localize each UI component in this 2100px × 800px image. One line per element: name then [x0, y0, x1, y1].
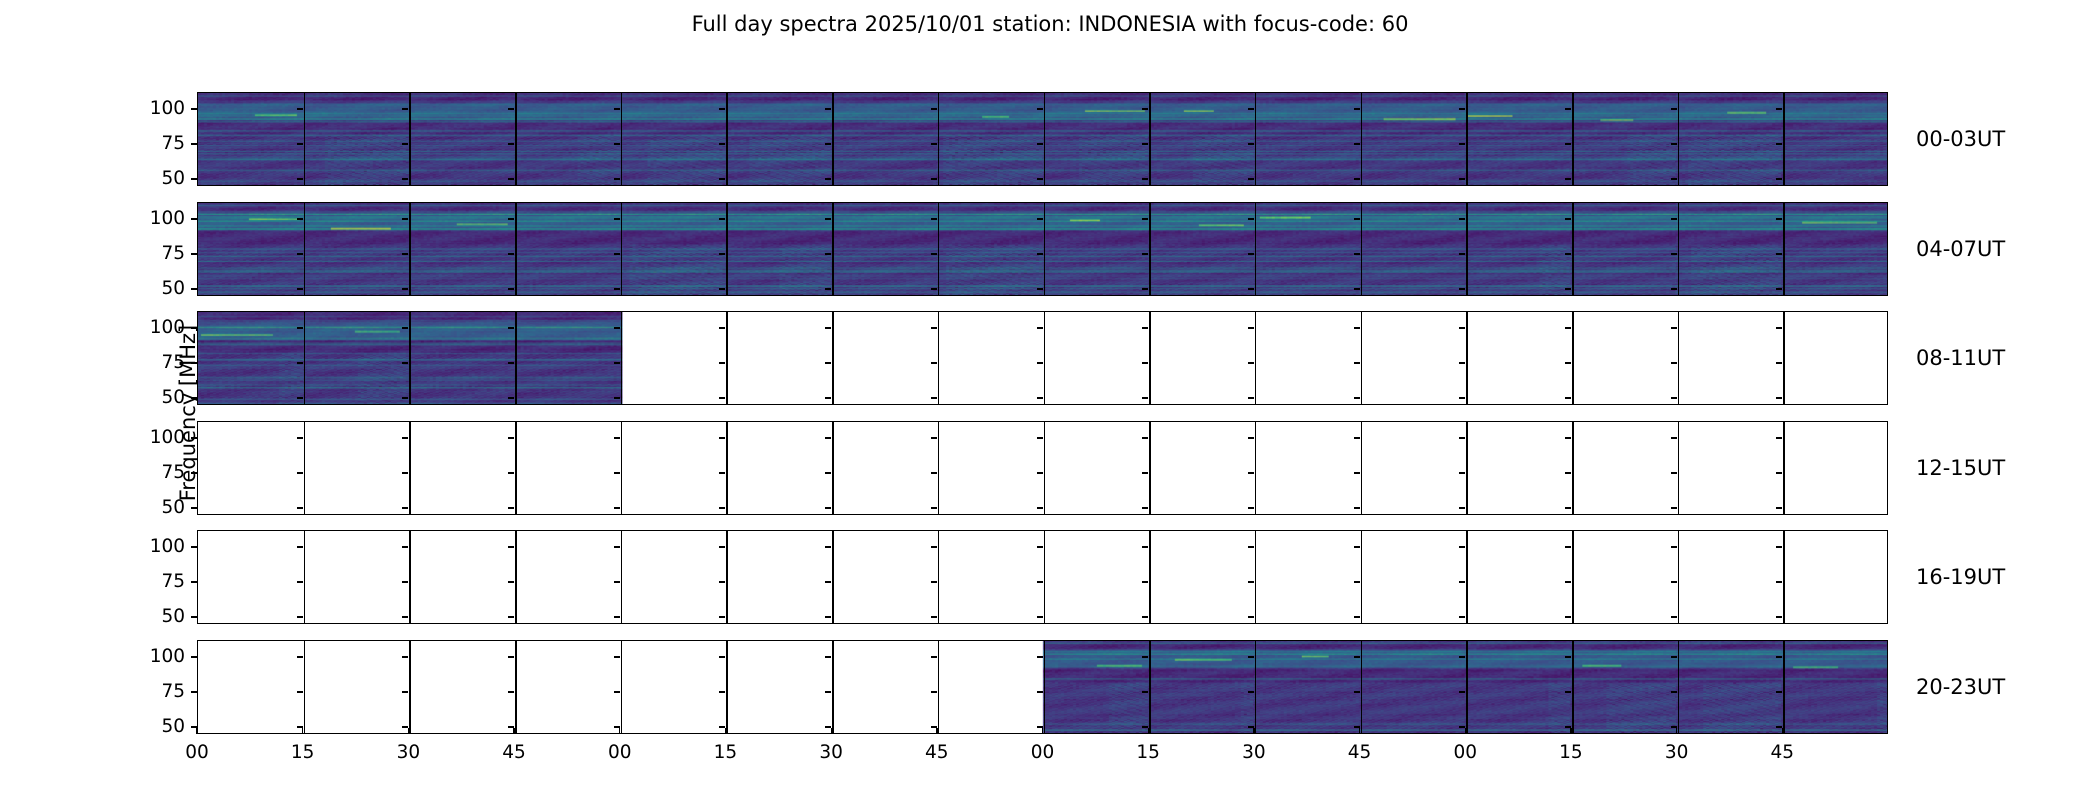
y-tick-mark-interior [614, 507, 620, 508]
segment-separator [1466, 422, 1468, 514]
y-tick-mark-interior [931, 178, 937, 179]
x-tick-label: 45 [897, 744, 977, 763]
row-label-00-03ut: 00-03UT [1916, 129, 2005, 150]
segment-separator [1149, 641, 1151, 733]
y-tick-mark-interior [1354, 656, 1360, 657]
y-tick-mark [191, 581, 197, 582]
segment-separator [938, 531, 940, 623]
segment-separator [1044, 203, 1046, 295]
y-tick-mark-interior [1671, 472, 1677, 473]
y-tick-mark-interior [931, 437, 937, 438]
spectrogram-figure: Full day spectra 2025/10/01 station: IND… [0, 0, 2100, 800]
y-tick-mark-interior [614, 437, 620, 438]
segment-separator [621, 93, 623, 185]
y-tick-mark-interior [297, 218, 303, 219]
y-tick-mark-interior [825, 472, 831, 473]
y-tick-mark-interior [931, 616, 937, 617]
segment-separator [1678, 93, 1680, 185]
y-tick-mark-interior [1354, 108, 1360, 109]
y-tick-mark-interior [402, 397, 408, 398]
y-tick-mark-interior [1565, 288, 1571, 289]
y-tick-mark-interior [508, 581, 514, 582]
y-tick-mark-interior [1459, 327, 1465, 328]
y-tick-mark-interior [1142, 218, 1148, 219]
x-tick-label: 30 [791, 744, 871, 763]
y-tick-mark-interior [719, 472, 725, 473]
y-tick-mark-interior [402, 327, 408, 328]
y-tick-mark-interior [825, 546, 831, 547]
y-tick-mark-interior [931, 143, 937, 144]
segment-separator [726, 531, 728, 623]
y-tick-mark-interior [1776, 507, 1782, 508]
y-tick-mark-interior [402, 546, 408, 547]
y-tick-label: 100 [105, 538, 185, 557]
y-tick-mark-interior [825, 108, 831, 109]
y-tick-mark-interior [1776, 656, 1782, 657]
y-tick-mark-interior [1776, 437, 1782, 438]
y-tick-mark-interior [825, 143, 831, 144]
segment-separator [1044, 312, 1046, 404]
segment-separator [1255, 93, 1257, 185]
y-tick-mark-interior [1354, 327, 1360, 328]
y-tick-mark [191, 288, 197, 289]
y-tick-mark-interior [1776, 253, 1782, 254]
spectrogram-canvas [198, 422, 1887, 514]
y-tick-mark [191, 472, 197, 473]
y-tick-mark-interior [719, 143, 725, 144]
y-tick-mark-interior [1354, 253, 1360, 254]
row-label-16-19ut: 16-19UT [1916, 567, 2005, 588]
segment-separator [1361, 531, 1363, 623]
y-tick-mark-interior [1565, 507, 1571, 508]
y-tick-mark-interior [931, 253, 937, 254]
y-tick-mark-interior [1459, 507, 1465, 508]
y-tick-mark-interior [1459, 581, 1465, 582]
y-tick-mark-interior [1142, 507, 1148, 508]
segment-separator [1361, 422, 1363, 514]
y-tick-mark-interior [1459, 143, 1465, 144]
y-tick-mark-interior [825, 437, 831, 438]
y-tick-mark-interior [1037, 656, 1043, 657]
x-tick-mark [1465, 728, 1466, 734]
y-tick-mark-interior [719, 507, 725, 508]
y-tick-mark-interior [297, 143, 303, 144]
x-tick-mark [1148, 728, 1149, 734]
y-tick-mark-interior [1565, 397, 1571, 398]
y-tick-mark-interior [931, 397, 937, 398]
segment-separator [409, 93, 411, 185]
y-tick-mark-interior [1459, 253, 1465, 254]
x-tick-mark [1676, 728, 1677, 734]
y-tick-label: 50 [105, 170, 185, 189]
y-tick-mark-interior [1248, 397, 1254, 398]
segment-separator [1044, 531, 1046, 623]
y-tick-mark-interior [931, 691, 937, 692]
y-tick-mark-interior [508, 362, 514, 363]
spectrogram-canvas [198, 93, 1887, 185]
y-tick-mark-interior [1565, 581, 1571, 582]
y-tick-mark [191, 546, 197, 547]
y-tick-mark-interior [1459, 691, 1465, 692]
y-tick-mark-interior [1565, 472, 1571, 473]
row-label-12-15ut: 12-15UT [1916, 458, 2005, 479]
y-tick-mark-interior [1565, 108, 1571, 109]
y-tick-mark-interior [402, 507, 408, 508]
y-tick-mark-interior [614, 581, 620, 582]
y-tick-mark [191, 507, 197, 508]
y-tick-mark-interior [1248, 327, 1254, 328]
y-tick-mark-interior [931, 108, 937, 109]
y-tick-mark-interior [1776, 178, 1782, 179]
y-tick-mark-interior [1142, 362, 1148, 363]
y-tick-mark-interior [297, 546, 303, 547]
x-tick-mark [408, 728, 409, 734]
y-tick-mark-interior [297, 327, 303, 328]
segment-separator [1044, 641, 1046, 733]
segment-separator [1149, 422, 1151, 514]
y-tick-mark-interior [825, 253, 831, 254]
y-tick-mark-interior [1671, 362, 1677, 363]
y-tick-mark-interior [1671, 397, 1677, 398]
x-tick-label: 00 [580, 744, 660, 763]
y-tick-mark-interior [825, 178, 831, 179]
y-tick-mark-interior [1142, 656, 1148, 657]
y-tick-mark-interior [1142, 327, 1148, 328]
y-tick-mark-interior [1565, 691, 1571, 692]
y-tick-mark-interior [1459, 472, 1465, 473]
y-tick-mark-interior [614, 656, 620, 657]
y-tick-mark-interior [1776, 327, 1782, 328]
y-tick-mark-interior [931, 327, 937, 328]
y-tick-mark-interior [1776, 143, 1782, 144]
y-tick-mark-interior [1037, 362, 1043, 363]
y-tick-mark [191, 397, 197, 398]
segment-separator [1678, 641, 1680, 733]
y-tick-mark-interior [1142, 472, 1148, 473]
segment-separator [409, 531, 411, 623]
y-tick-mark-interior [1142, 108, 1148, 109]
y-tick-label: 100 [105, 210, 185, 229]
y-tick-mark-interior [1776, 546, 1782, 547]
segment-separator [621, 312, 623, 404]
y-tick-mark-interior [719, 546, 725, 547]
y-tick-mark-interior [614, 472, 620, 473]
y-tick-mark-interior [931, 656, 937, 657]
segment-separator [1678, 531, 1680, 623]
row-label-08-11ut: 08-11UT [1916, 348, 2005, 369]
y-tick-mark-interior [1671, 327, 1677, 328]
y-tick-mark [191, 691, 197, 692]
segment-separator [938, 203, 940, 295]
y-tick-mark-interior [1037, 218, 1043, 219]
x-tick-mark [831, 728, 832, 734]
y-tick-mark-interior [297, 691, 303, 692]
y-tick-mark-interior [825, 616, 831, 617]
y-tick-mark-interior [1565, 143, 1571, 144]
y-tick-label: 50 [105, 389, 185, 408]
y-tick-mark-interior [402, 616, 408, 617]
y-tick-mark [191, 253, 197, 254]
segment-separator [1361, 93, 1363, 185]
spectrogram-canvas [198, 531, 1887, 623]
y-tick-mark-interior [825, 288, 831, 289]
segment-separator [1466, 531, 1468, 623]
segment-separator [1572, 203, 1574, 295]
segment-separator [1572, 531, 1574, 623]
x-tick-label: 30 [368, 744, 448, 763]
y-tick-mark-interior [1354, 362, 1360, 363]
y-tick-mark-interior [402, 656, 408, 657]
y-tick-mark [191, 143, 197, 144]
segment-separator [304, 203, 306, 295]
y-tick-mark-interior [1248, 546, 1254, 547]
figure-title: Full day spectra 2025/10/01 station: IND… [0, 12, 2100, 36]
row-label-04-07ut: 04-07UT [1916, 239, 2005, 260]
y-tick-mark [191, 178, 197, 179]
row-label-20-23ut: 20-23UT [1916, 677, 2005, 698]
y-tick-mark-interior [1248, 253, 1254, 254]
y-tick-mark-interior [1776, 108, 1782, 109]
y-tick-mark-interior [1459, 616, 1465, 617]
segment-separator [1149, 531, 1151, 623]
segment-separator [515, 641, 517, 733]
segment-separator [1466, 203, 1468, 295]
spectrogram-axes-00-03ut [197, 92, 1888, 186]
y-tick-mark-interior [614, 178, 620, 179]
y-tick-mark-interior [297, 437, 303, 438]
y-tick-mark-interior [719, 218, 725, 219]
y-tick-mark [191, 437, 197, 438]
y-tick-label: 75 [105, 464, 185, 483]
segment-separator [832, 93, 834, 185]
x-tick-label: 45 [1320, 744, 1400, 763]
y-tick-mark-interior [1354, 143, 1360, 144]
y-tick-mark-interior [1671, 656, 1677, 657]
y-tick-mark-interior [402, 362, 408, 363]
segment-separator [1044, 422, 1046, 514]
segment-separator [304, 93, 306, 185]
y-tick-mark-interior [1671, 691, 1677, 692]
y-tick-mark-interior [1671, 546, 1677, 547]
y-tick-mark [191, 656, 197, 657]
y-tick-label: 50 [105, 499, 185, 518]
segment-separator [1255, 531, 1257, 623]
segment-separator [1149, 203, 1151, 295]
segment-separator [1783, 93, 1785, 185]
y-tick-mark-interior [402, 178, 408, 179]
y-tick-mark-interior [1037, 581, 1043, 582]
y-tick-mark-interior [1142, 437, 1148, 438]
y-tick-mark-interior [1248, 472, 1254, 473]
y-tick-mark-interior [614, 397, 620, 398]
y-tick-mark-interior [1776, 616, 1782, 617]
spectrogram-axes-12-15ut [197, 421, 1888, 515]
y-tick-mark-interior [508, 108, 514, 109]
y-tick-mark-interior [719, 108, 725, 109]
y-tick-mark-interior [1142, 581, 1148, 582]
y-tick-mark-interior [297, 108, 303, 109]
y-tick-label: 50 [105, 608, 185, 627]
segment-separator [938, 422, 940, 514]
y-tick-mark-interior [1248, 437, 1254, 438]
y-tick-mark-interior [1248, 507, 1254, 508]
x-tick-label: 00 [1425, 744, 1505, 763]
y-tick-mark-interior [297, 362, 303, 363]
y-tick-label: 100 [105, 429, 185, 448]
y-tick-mark-interior [1671, 581, 1677, 582]
y-tick-mark-interior [1565, 546, 1571, 547]
y-tick-mark-interior [1037, 288, 1043, 289]
segment-separator [938, 641, 940, 733]
y-tick-mark-interior [508, 472, 514, 473]
segment-separator [726, 312, 728, 404]
y-tick-mark-interior [1037, 143, 1043, 144]
y-tick-mark-interior [719, 656, 725, 657]
y-tick-mark-interior [1354, 507, 1360, 508]
y-tick-mark-interior [1248, 108, 1254, 109]
segment-separator [1255, 203, 1257, 295]
x-tick-mark [619, 728, 620, 734]
segment-separator [832, 641, 834, 733]
y-tick-mark-interior [508, 616, 514, 617]
y-tick-mark-interior [1459, 288, 1465, 289]
y-tick-mark-interior [1671, 253, 1677, 254]
y-tick-mark-interior [1354, 691, 1360, 692]
y-tick-mark-interior [719, 581, 725, 582]
y-tick-mark-interior [1248, 362, 1254, 363]
y-tick-mark-interior [719, 288, 725, 289]
y-tick-mark-interior [1142, 546, 1148, 547]
y-tick-mark-interior [614, 691, 620, 692]
y-tick-mark-interior [1459, 218, 1465, 219]
x-tick-label: 30 [1637, 744, 1717, 763]
y-tick-mark-interior [1671, 178, 1677, 179]
x-tick-mark [1359, 728, 1360, 734]
segment-separator [1783, 312, 1785, 404]
y-tick-mark-interior [931, 218, 937, 219]
y-tick-mark-interior [931, 507, 937, 508]
segment-separator [1466, 312, 1468, 404]
y-tick-mark-interior [719, 178, 725, 179]
y-tick-mark-interior [1671, 616, 1677, 617]
y-tick-mark-interior [614, 108, 620, 109]
y-tick-mark-interior [1248, 143, 1254, 144]
segment-separator [304, 422, 306, 514]
y-tick-mark-interior [1565, 437, 1571, 438]
y-tick-mark [191, 362, 197, 363]
spectrogram-canvas [198, 312, 1887, 404]
segment-separator [832, 422, 834, 514]
segment-separator [621, 422, 623, 514]
y-tick-mark-interior [1671, 218, 1677, 219]
y-tick-mark-interior [508, 253, 514, 254]
y-tick-mark-interior [1037, 546, 1043, 547]
y-tick-mark-interior [1459, 546, 1465, 547]
x-tick-mark [302, 728, 303, 734]
segment-separator [1572, 312, 1574, 404]
segment-separator [515, 93, 517, 185]
segment-separator [1783, 422, 1785, 514]
y-tick-mark-interior [1142, 143, 1148, 144]
y-tick-mark-interior [931, 581, 937, 582]
segment-separator [1783, 203, 1785, 295]
y-tick-mark-interior [1142, 288, 1148, 289]
y-tick-mark-interior [1354, 472, 1360, 473]
y-tick-mark-interior [1459, 656, 1465, 657]
segment-separator [832, 312, 834, 404]
y-tick-mark-interior [297, 253, 303, 254]
y-tick-mark-interior [402, 253, 408, 254]
y-tick-mark-interior [825, 656, 831, 657]
y-tick-mark-interior [1248, 581, 1254, 582]
y-tick-label: 100 [105, 319, 185, 338]
y-tick-mark-interior [1565, 218, 1571, 219]
segment-separator [726, 422, 728, 514]
x-tick-label: 15 [685, 744, 765, 763]
y-tick-label: 75 [105, 683, 185, 702]
y-tick-mark-interior [1142, 616, 1148, 617]
y-tick-mark-interior [297, 178, 303, 179]
y-tick-mark-interior [1354, 397, 1360, 398]
y-tick-mark-interior [508, 143, 514, 144]
y-tick-mark-interior [297, 616, 303, 617]
segment-separator [1572, 641, 1574, 733]
spectrogram-axes-20-23ut [197, 640, 1888, 734]
y-tick-mark-interior [508, 546, 514, 547]
x-tick-mark [725, 728, 726, 734]
segment-separator [409, 312, 411, 404]
segment-separator [832, 203, 834, 295]
y-tick-label: 75 [105, 354, 185, 373]
y-tick-mark-interior [297, 397, 303, 398]
y-tick-mark-interior [931, 362, 937, 363]
y-tick-mark-interior [508, 327, 514, 328]
y-tick-mark-interior [402, 218, 408, 219]
y-tick-mark-interior [297, 507, 303, 508]
y-tick-mark-interior [1459, 108, 1465, 109]
segment-separator [515, 203, 517, 295]
y-tick-label: 100 [105, 648, 185, 667]
y-tick-mark-interior [1671, 437, 1677, 438]
y-tick-mark-interior [1776, 397, 1782, 398]
y-tick-mark-interior [1565, 253, 1571, 254]
y-tick-mark-interior [1248, 656, 1254, 657]
y-tick-mark-interior [1776, 472, 1782, 473]
y-tick-label: 75 [105, 245, 185, 264]
segment-separator [304, 312, 306, 404]
y-tick-mark-interior [719, 691, 725, 692]
x-tick-mark [936, 728, 937, 734]
segment-separator [938, 93, 940, 185]
y-tick-mark-interior [1565, 327, 1571, 328]
y-tick-mark-interior [1037, 397, 1043, 398]
y-tick-mark-interior [1248, 288, 1254, 289]
y-tick-mark-interior [1037, 472, 1043, 473]
spectrogram-canvas [198, 641, 1887, 733]
y-tick-mark-interior [1037, 437, 1043, 438]
spectrogram-canvas [198, 203, 1887, 295]
x-tick-label: 45 [1742, 744, 1822, 763]
y-tick-mark-interior [1037, 327, 1043, 328]
y-tick-mark-interior [297, 288, 303, 289]
y-tick-mark-interior [1459, 397, 1465, 398]
y-tick-mark-interior [508, 288, 514, 289]
segment-separator [409, 641, 411, 733]
segment-separator [1255, 422, 1257, 514]
y-tick-mark-interior [614, 143, 620, 144]
y-tick-mark-interior [1671, 108, 1677, 109]
y-tick-mark-interior [1142, 397, 1148, 398]
